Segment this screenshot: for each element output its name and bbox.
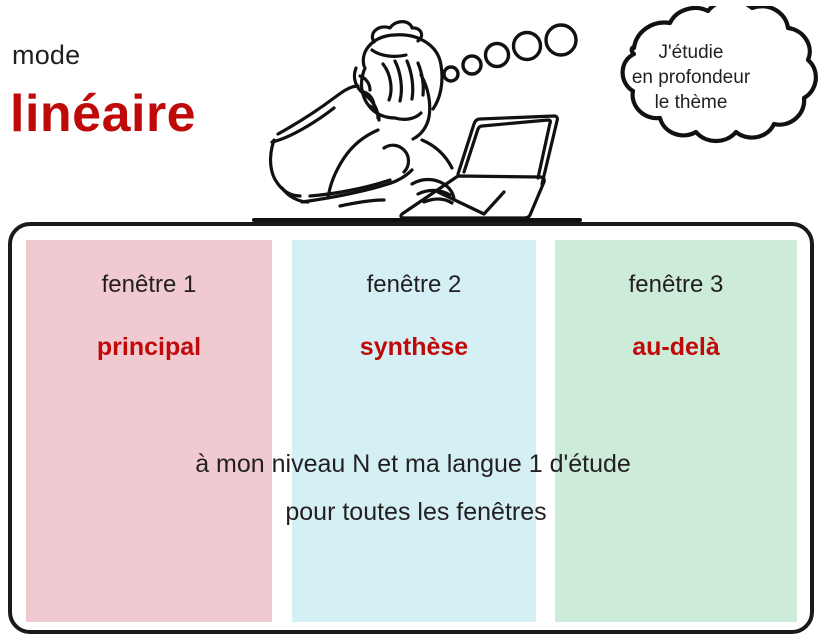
window-panel-3[interactable]: fenêtre 3 au-delà <box>555 240 797 622</box>
window-panel-2[interactable]: fenêtre 2 synthèse <box>292 240 536 622</box>
window-panel-3-subtitle: au-delà <box>555 335 797 360</box>
window-panel-3-title: fenêtre 3 <box>555 273 797 297</box>
thought-line-2: en profondeur <box>632 67 750 88</box>
windows-columns: fenêtre 1 principal fenêtre 2 synthèse f… <box>26 240 797 622</box>
thought-line-3: le thème <box>655 92 728 113</box>
thought-text: J'étudie en profondeur le thème <box>596 40 786 115</box>
window-panel-2-title: fenêtre 2 <box>292 273 536 297</box>
mode-label: mode <box>12 42 80 69</box>
mode-title: linéaire <box>10 88 196 140</box>
diagram-canvas: mode linéaire <box>0 0 827 644</box>
window-panel-1-title: fenêtre 1 <box>26 273 272 297</box>
thought-line-1: J'étudie <box>659 42 724 63</box>
window-panel-1[interactable]: fenêtre 1 principal <box>26 240 272 622</box>
window-panel-2-subtitle: synthèse <box>292 335 536 360</box>
window-panel-1-subtitle: principal <box>26 335 272 360</box>
